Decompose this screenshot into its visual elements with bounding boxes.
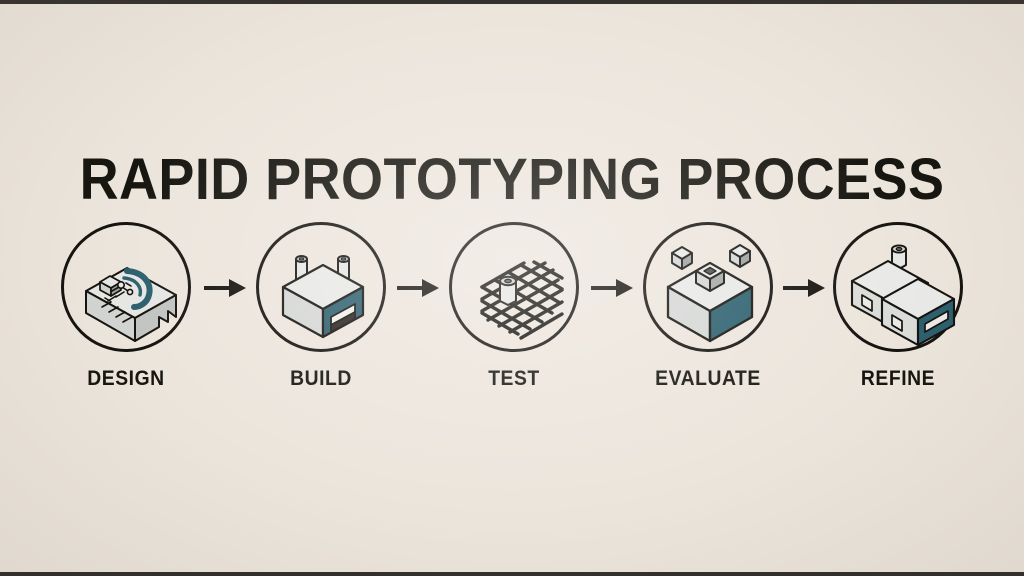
process-step-refine[interactable]: REFINE [820,222,976,412]
step-label-evaluate: EVALUATE [636,368,780,390]
process-flow: DESIGN [0,222,1024,412]
flow-arrow-3 [591,279,633,297]
isometric-cube-samples-icon [646,225,776,355]
step-circle-refine [833,222,963,352]
process-step-build[interactable]: BUILD [243,222,399,412]
step-label-build: BUILD [249,368,393,390]
isometric-3d-printer-icon [259,225,389,355]
isometric-cad-workbench-icon [64,225,194,355]
step-label-test: TEST [442,368,586,390]
page-title: RAPID PROTOTYPING PROCESS [36,151,988,209]
letterbox-top-edge [0,0,1024,4]
isometric-paired-blocks-icon [836,225,966,355]
step-circle-build [256,222,386,352]
flow-arrow-4 [783,279,825,297]
process-step-test[interactable]: TEST [436,222,592,412]
flow-arrow-1 [204,279,246,297]
step-circle-design [61,222,191,352]
flow-arrow-2 [397,279,439,297]
step-circle-test [449,222,579,352]
process-step-evaluate[interactable]: EVALUATE [630,222,786,412]
isometric-lattice-grid-icon [452,225,582,355]
step-label-design: DESIGN [54,368,198,390]
step-label-refine: REFINE [826,368,970,390]
step-circle-evaluate [643,222,773,352]
letterbox-bottom-edge [0,572,1024,576]
infographic-canvas: RAPID PROTOTYPING PROCESS [0,0,1024,576]
process-step-design[interactable]: DESIGN [48,222,204,412]
